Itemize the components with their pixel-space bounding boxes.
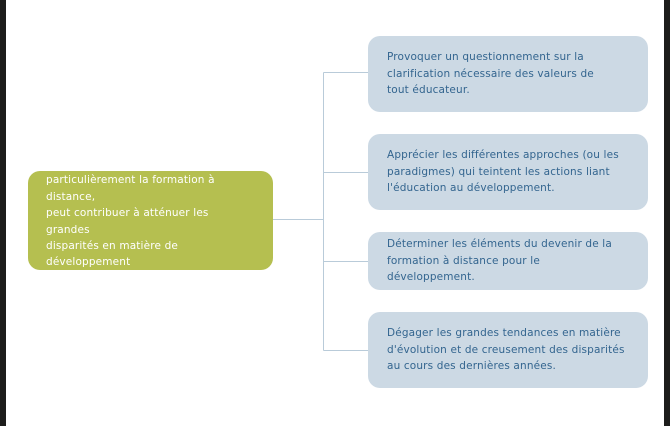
branch-node-4[interactable]: Dégager les grandes tendances en matière… [368,312,648,388]
diagram-canvas: Évaluer comment l'éducation, et plus par… [0,0,670,426]
branch-node-2-label: Apprécier les différentes approches (ou … [387,147,619,197]
branch-node-2[interactable]: Apprécier les différentes approches (ou … [368,134,648,210]
root-node[interactable]: Évaluer comment l'éducation, et plus par… [28,171,273,270]
branch-node-3[interactable]: Déterminer les éléments du devenir de la… [368,232,648,290]
branch-node-1[interactable]: Provoquer un questionnement sur la clari… [368,36,648,112]
root-node-label: Évaluer comment l'éducation, et plus par… [46,156,255,287]
branch-node-3-label: Déterminer les éléments du devenir de la… [387,236,629,286]
branch-node-1-label: Provoquer un questionnement sur la clari… [387,49,594,99]
branch-node-4-label: Dégager les grandes tendances en matière… [387,325,625,375]
